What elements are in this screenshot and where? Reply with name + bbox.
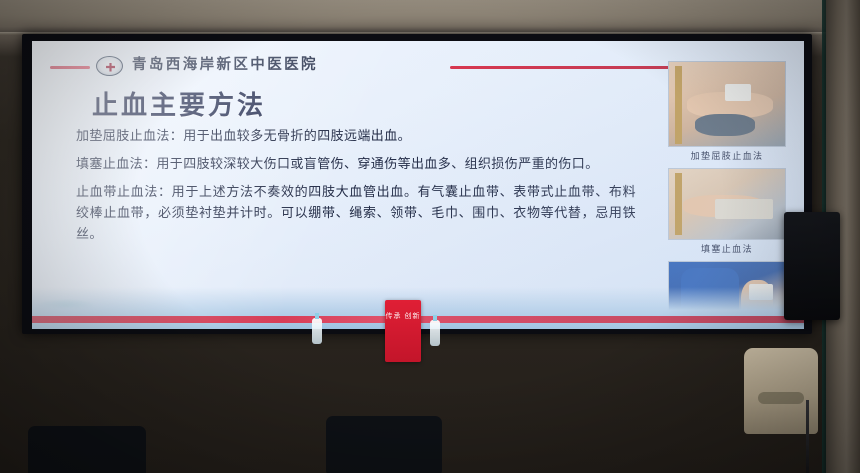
ceiling-band: [0, 0, 860, 34]
banner-text: 传承 创新: [385, 300, 421, 322]
photo-caption: 填塞止血法: [668, 242, 786, 255]
conference-room-photo: 青岛西海岸新区中医医院 止血主要方法 加垫屈肢止血法：用于出血较多无骨折的四肢远…: [0, 0, 860, 473]
slide-paragraph: 加垫屈肢止血法：用于出血较多无骨折的四肢远端出血。: [76, 125, 636, 146]
slide-paragraph: 止血带止血法：用于上述方法不奏效的四肢大血管出血。有气囊止血带、表带式止血带、布…: [76, 181, 636, 244]
photo-clothing: [695, 114, 755, 136]
photo-caption: 加垫屈肢止血法: [668, 149, 786, 162]
red-banner: 传承 创新: [385, 300, 421, 362]
slide-paragraph: 填塞止血法：用于四肢较深较大伤口或盲管伤、穿通伤等出血多、组织损伤严重的伤口。: [76, 153, 636, 174]
organization-name: 青岛西海岸新区中医医院: [132, 53, 318, 74]
photo-post: [675, 173, 682, 235]
loudspeaker: [784, 212, 840, 320]
photo-post: [675, 66, 682, 144]
photo-strap: [725, 84, 751, 101]
slide-body: 加垫屈肢止血法：用于出血较多无骨折的四肢远端出血。 填塞止血法：用于四肢较深较大…: [76, 125, 636, 251]
hospital-emblem-icon: [96, 56, 123, 76]
header-rule-left: [50, 66, 90, 69]
photo-gauze: [715, 199, 773, 219]
water-bottle: [430, 320, 440, 346]
chair-backrest-slot: [758, 392, 804, 404]
photo-bent-limb-hemostasis: [668, 61, 786, 147]
photo-wound-packing: [668, 168, 786, 240]
presentation-slide: 青岛西海岸新区中医医院 止血主要方法 加垫屈肢止血法：用于出血较多无骨折的四肢远…: [32, 41, 804, 329]
slide-title: 止血主要方法: [92, 85, 266, 122]
water-bottle: [312, 318, 322, 344]
microphone-stand: [806, 400, 809, 473]
